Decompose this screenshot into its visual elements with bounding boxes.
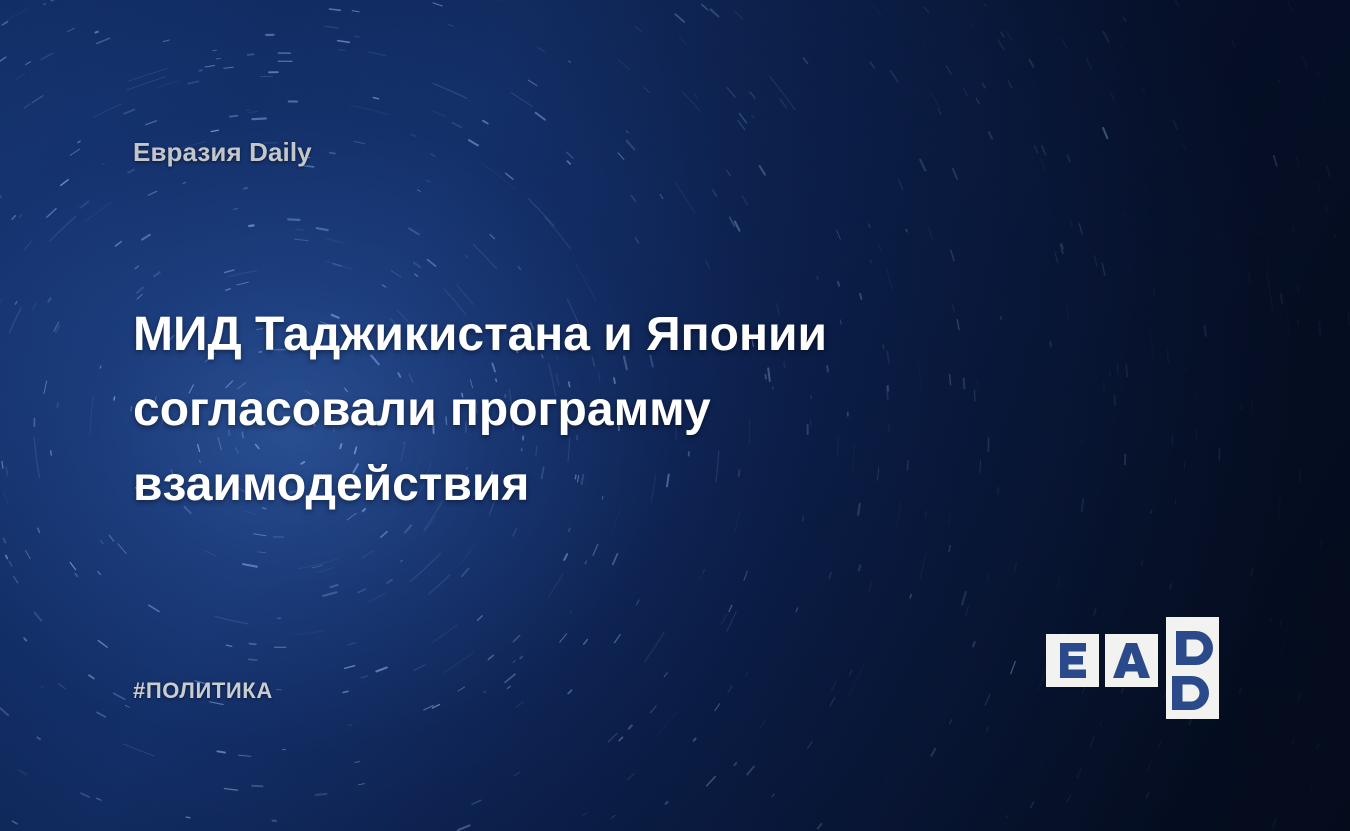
- news-card: Евразия Daily МИД Таджикистана и Японии …: [0, 0, 1350, 831]
- page-title: МИД Таджикистана и Японии согласовали пр…: [133, 298, 973, 523]
- logo-tile-d-lower: [1166, 666, 1219, 719]
- logo-tile-a: [1105, 634, 1158, 687]
- category-hashtag[interactable]: #ПОЛИТИКА: [133, 678, 273, 704]
- brand-logotype[interactable]: Евразия Daily: [133, 137, 312, 168]
- logo-tile-d-upper: [1166, 617, 1219, 670]
- logo-tile-e: [1046, 634, 1099, 687]
- card-content: Евразия Daily МИД Таджикистана и Японии …: [0, 0, 1350, 831]
- eadaily-logo[interactable]: [1046, 617, 1232, 719]
